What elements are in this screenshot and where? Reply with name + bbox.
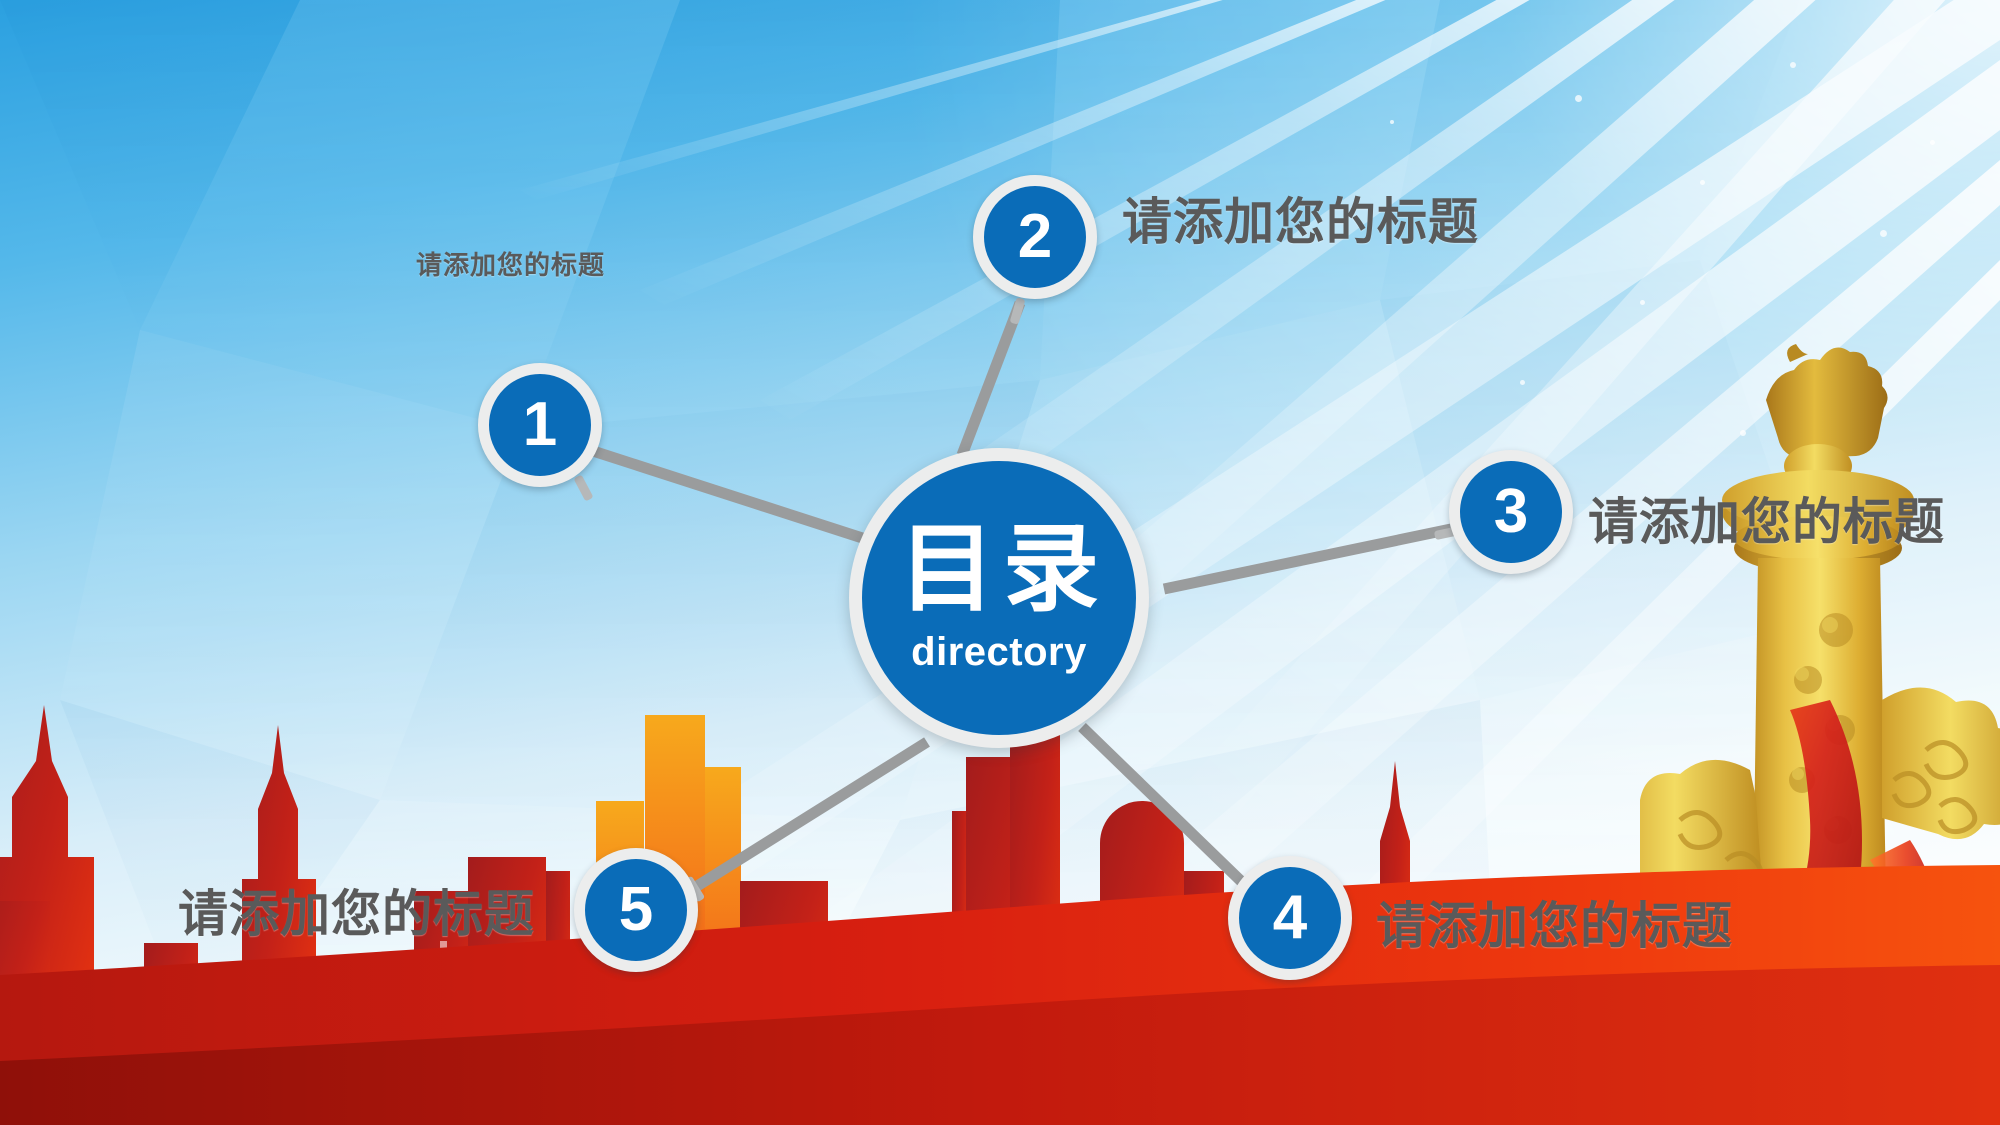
node-stem-1: [573, 474, 593, 501]
center-title-cn: 目录: [891, 522, 1107, 618]
toc-node-label-2: 请添加您的标题: [1122, 182, 1479, 254]
node-number-1: 1: [523, 394, 557, 456]
toc-node-label-4: 请添加您的标题: [1376, 886, 1733, 958]
presentation-slide: 目录 directory 1 请添加您的标题 2 请添加您的标题 3 请添加您的…: [0, 0, 2000, 1125]
node-number-5: 5: [619, 879, 653, 941]
center-title-en: directory: [911, 630, 1087, 674]
node-number-3: 3: [1494, 481, 1528, 543]
toc-node-label-3: 请添加您的标题: [1588, 482, 1945, 554]
toc-node-5[interactable]: 5: [574, 848, 698, 972]
node-number-2: 2: [1018, 206, 1052, 268]
toc-node-1[interactable]: 1: [478, 363, 602, 487]
toc-diagram: 目录 directory 1 请添加您的标题 2 请添加您的标题 3 请添加您的…: [0, 0, 2000, 1125]
center-node-directory[interactable]: 目录 directory: [849, 448, 1149, 748]
toc-node-label-5: 请添加您的标题: [178, 874, 535, 946]
toc-node-label-1: 请添加您的标题: [416, 245, 605, 282]
toc-node-4[interactable]: 4: [1228, 856, 1352, 980]
toc-node-2[interactable]: 2: [973, 175, 1097, 299]
toc-node-3[interactable]: 3: [1449, 450, 1573, 574]
node-number-4: 4: [1273, 887, 1307, 949]
node-stem-2: [1010, 297, 1026, 324]
